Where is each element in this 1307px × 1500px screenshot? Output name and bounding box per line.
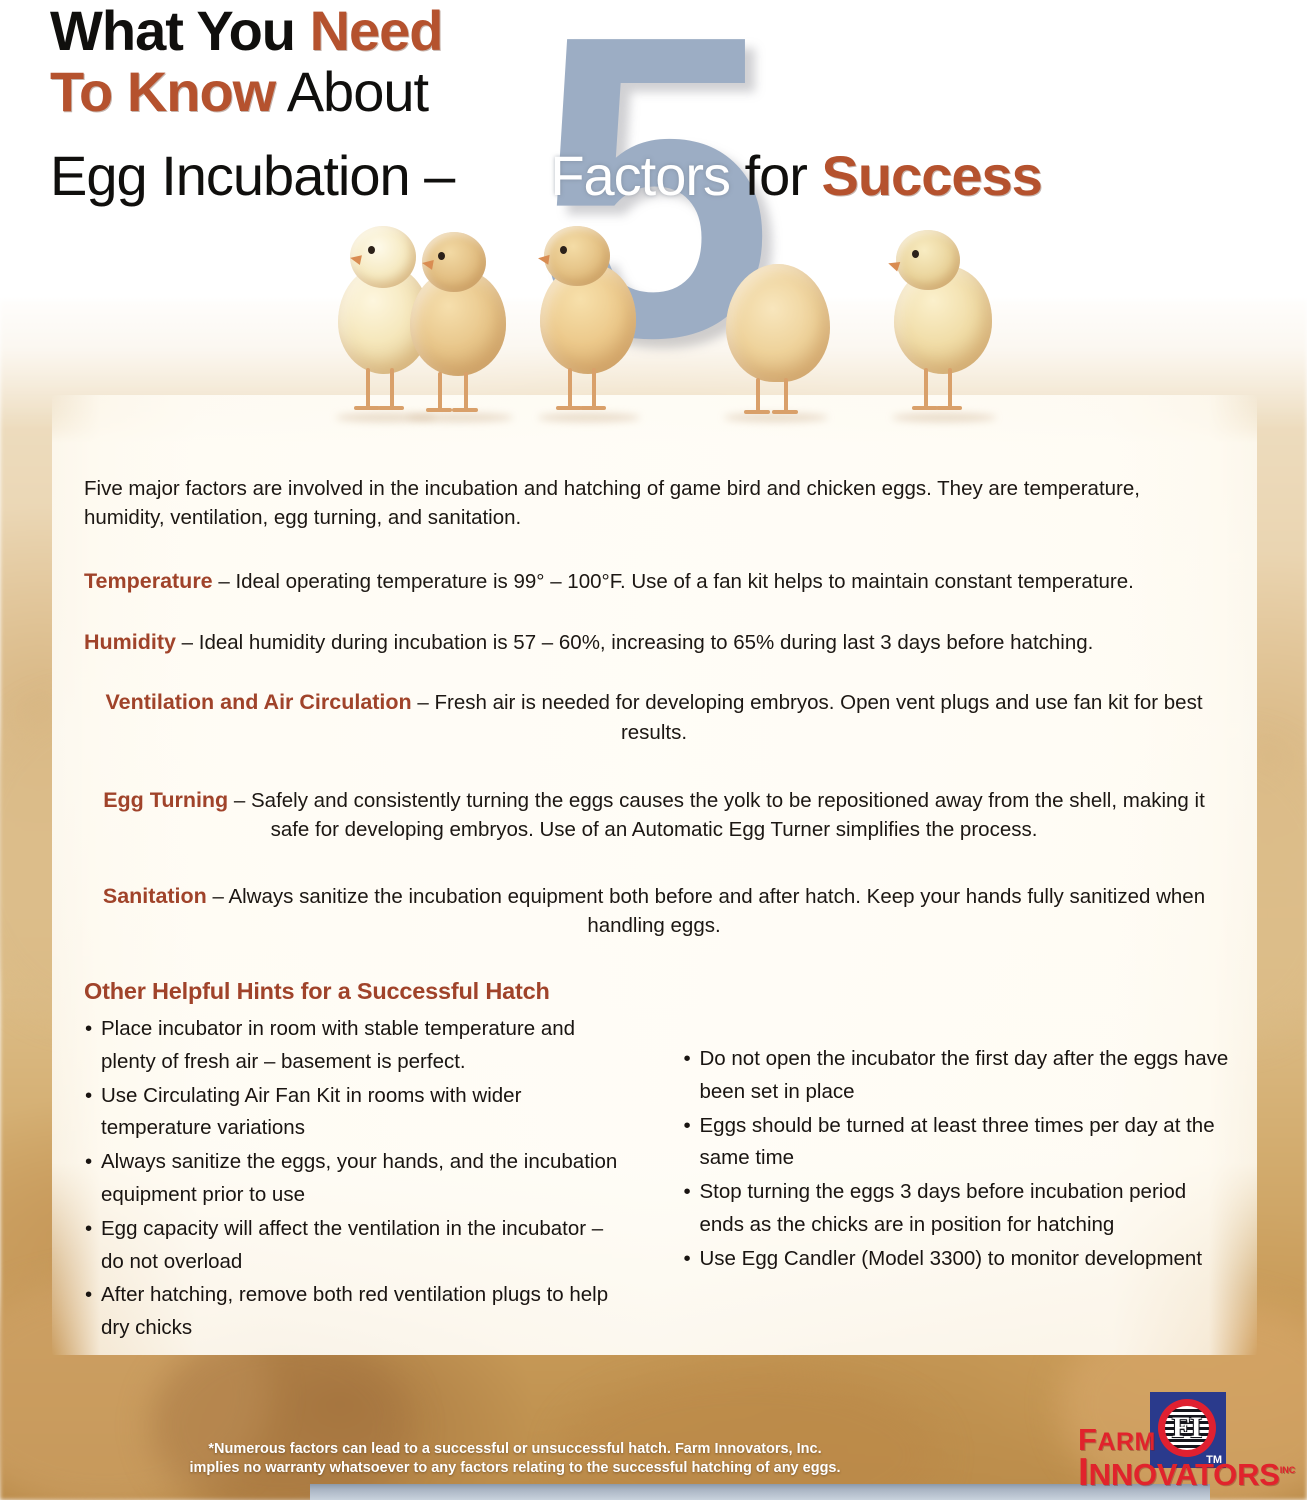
factor-egg-turning: Egg Turning – Safely and consistently tu… <box>84 785 1224 845</box>
hint-text: After hatching, remove both red ventilat… <box>101 1283 608 1339</box>
hint-text: Always sanitize the eggs, your hands, an… <box>101 1150 617 1206</box>
bullet-icon: • <box>684 1243 691 1276</box>
chick-2 <box>398 226 523 416</box>
factor-temperature-heading: Temperature <box>84 569 213 593</box>
chick-3 <box>528 221 653 416</box>
title-line-2-accent: To Know <box>50 60 275 123</box>
footer-disclaimer-line-2: implies no warranty whatsoever to any fa… <box>0 1459 1030 1478</box>
factor-sanitation-heading: Sanitation <box>103 884 207 908</box>
list-item: •Do not open the incubator the first day… <box>683 1043 1230 1109</box>
factor-ventilation-heading: Ventilation and Air Circulation <box>105 690 411 714</box>
page-title: What You Need To Know About <box>50 2 443 124</box>
title-line-1-plain: What You <box>50 0 310 62</box>
footer-disclaimer: *Numerous factors can lead to a successf… <box>0 1440 1030 1478</box>
list-item: •After hatching, remove both red ventila… <box>84 1279 631 1345</box>
bullet-icon: • <box>684 1176 691 1209</box>
title-line-2: To Know About <box>50 63 443 120</box>
farm-innovators-logo: FI TM FARM INNOVATORSINC <box>1078 1392 1283 1492</box>
body-copy: Five major factors are involved in the i… <box>84 474 1224 940</box>
list-item: •Use Circulating Air Fan Kit in rooms wi… <box>84 1080 631 1146</box>
factor-sanitation-text: – Always sanitize the incubation equipme… <box>207 885 1205 938</box>
infographic-poster: 5 What You Need To Know About Egg Incuba… <box>0 0 1307 1500</box>
subtitle-line: Egg Incubation –Factors for Success <box>50 148 1042 204</box>
subtitle-factors: Factors <box>550 144 730 207</box>
hint-text: Use Circulating Air Fan Kit in rooms wit… <box>101 1084 521 1140</box>
factor-humidity-text: – Ideal humidity during incubation is 57… <box>176 631 1093 654</box>
logo-word-farm: FARM <box>1078 1426 1283 1455</box>
hint-text: Place incubator in room with stable temp… <box>101 1017 575 1073</box>
hints-left-column: •Place incubator in room with stable tem… <box>84 1013 631 1346</box>
title-line-2-plain: About <box>275 60 428 123</box>
hint-text: Do not open the incubator the first day … <box>700 1047 1229 1103</box>
bullet-icon: • <box>85 1213 92 1246</box>
hints-right-column: •Do not open the incubator the first day… <box>683 1013 1230 1346</box>
hint-text: Egg capacity will affect the ventilation… <box>101 1217 603 1273</box>
bullet-icon: • <box>85 1146 92 1179</box>
logo-wordmark: FARM INNOVATORSINC <box>1078 1426 1283 1490</box>
factor-egg-turning-text: – Safely and consistently turning the eg… <box>228 789 1205 842</box>
bullet-icon: • <box>684 1043 691 1076</box>
factor-egg-turning-heading: Egg Turning <box>103 788 228 812</box>
subtitle-egg-incubation: Egg Incubation – <box>50 144 454 207</box>
list-item: •Place incubator in room with stable tem… <box>84 1013 631 1079</box>
hint-text: Eggs should be turned at least three tim… <box>700 1114 1215 1170</box>
hints-section: Other Helpful Hints for a Successful Hat… <box>84 978 1229 1346</box>
footer-disclaimer-line-1: *Numerous factors can lead to a successf… <box>0 1440 1030 1459</box>
list-item: •Eggs should be turned at least three ti… <box>683 1110 1230 1176</box>
subtitle-success: Success <box>822 144 1042 207</box>
header: 5 What You Need To Know About Egg Incuba… <box>0 0 1307 460</box>
chick-5 <box>880 224 1010 416</box>
factor-humidity-heading: Humidity <box>84 630 176 654</box>
logo-inn-cap: I <box>1078 1451 1089 1494</box>
logo-word-innovators: INNOVATORSINC <box>1078 1455 1283 1491</box>
list-item: •Stop turning the eggs 3 days before inc… <box>683 1176 1230 1242</box>
bullet-icon: • <box>85 1279 92 1312</box>
factor-sanitation: Sanitation – Always sanitize the incubat… <box>84 881 1224 941</box>
hint-text: Use Egg Candler (Model 3300) to monitor … <box>700 1247 1203 1270</box>
chick-4 <box>712 241 842 416</box>
bottom-bar <box>310 1484 1210 1500</box>
logo-inn-rest: NNOVATORS <box>1089 1457 1280 1492</box>
factor-temperature: Temperature – Ideal operating temperatur… <box>84 566 1224 597</box>
intro-paragraph: Five major factors are involved in the i… <box>84 474 1224 532</box>
factor-ventilation-text: – Fresh air is needed for developing emb… <box>412 691 1203 744</box>
factor-ventilation: Ventilation and Air Circulation – Fresh … <box>84 687 1224 747</box>
title-line-1: What You Need <box>50 2 443 59</box>
hint-text: Stop turning the eggs 3 days before incu… <box>700 1180 1187 1236</box>
factor-temperature-text: – Ideal operating temperature is 99° – 1… <box>213 570 1134 593</box>
title-line-1-accent: Need <box>310 0 443 62</box>
list-item: •Egg capacity will affect the ventilatio… <box>84 1213 631 1279</box>
bullet-icon: • <box>85 1013 92 1046</box>
logo-inc-mark: INC <box>1280 1466 1296 1475</box>
chicks-photo-row <box>0 208 1307 438</box>
bullet-icon: • <box>684 1110 691 1143</box>
factor-humidity: Humidity – Ideal humidity during incubat… <box>84 627 1224 658</box>
bullet-icon: • <box>85 1080 92 1113</box>
subtitle-for: for <box>730 144 821 207</box>
list-item: •Use Egg Candler (Model 3300) to monitor… <box>683 1243 1230 1276</box>
list-item: •Always sanitize the eggs, your hands, a… <box>84 1146 631 1212</box>
logo-farm-rest: ARM <box>1097 1428 1155 1456</box>
hints-title: Other Helpful Hints for a Successful Hat… <box>84 978 1229 1005</box>
